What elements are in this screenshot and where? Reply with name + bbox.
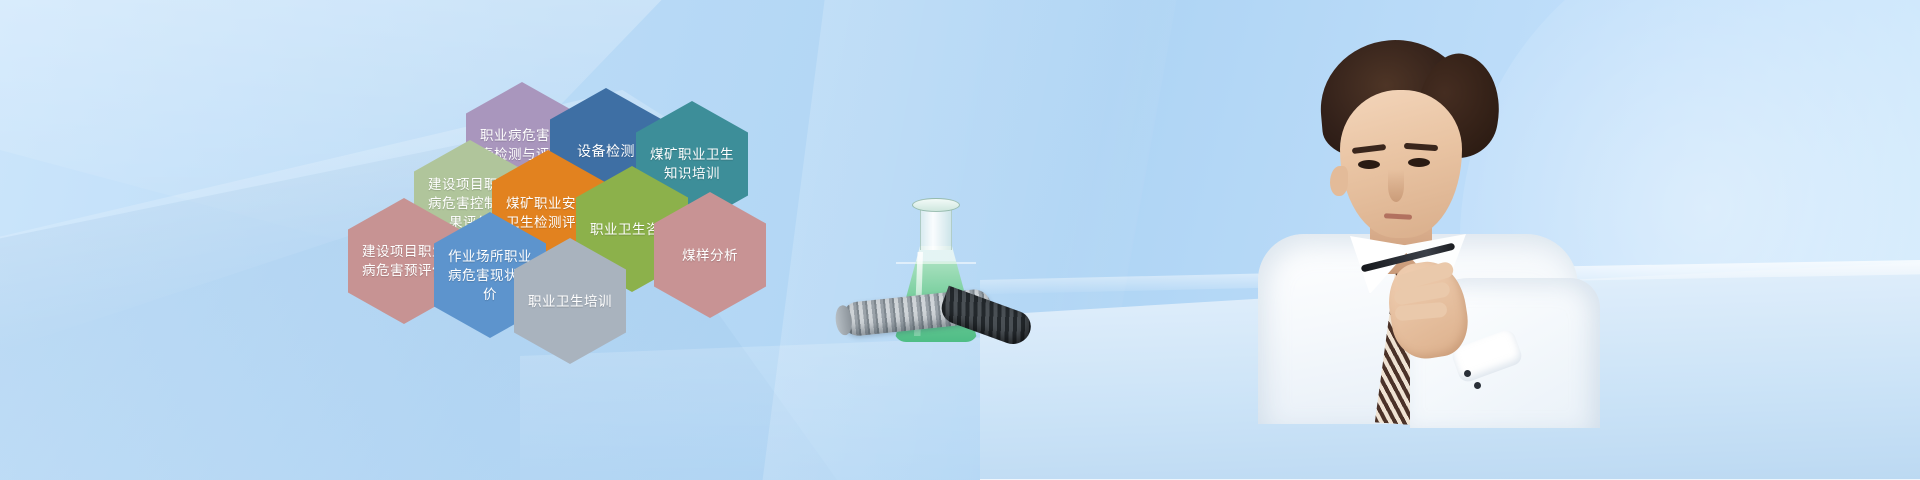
banner-stage: 职业病危害因素检测与评价建设项目职业病危害控制效果评价建设项目职业病危害预评价设… xyxy=(0,0,1920,480)
hexagon-label: 煤矿职业卫生知识培训 xyxy=(646,145,738,183)
hexagon-label: 煤样分析 xyxy=(664,246,756,265)
hexagon-cluster: 职业病危害因素检测与评价建设项目职业病危害控制效果评价建设项目职业病危害预评价设… xyxy=(0,0,1920,480)
hexagon-label: 职业卫生培训 xyxy=(524,292,616,311)
